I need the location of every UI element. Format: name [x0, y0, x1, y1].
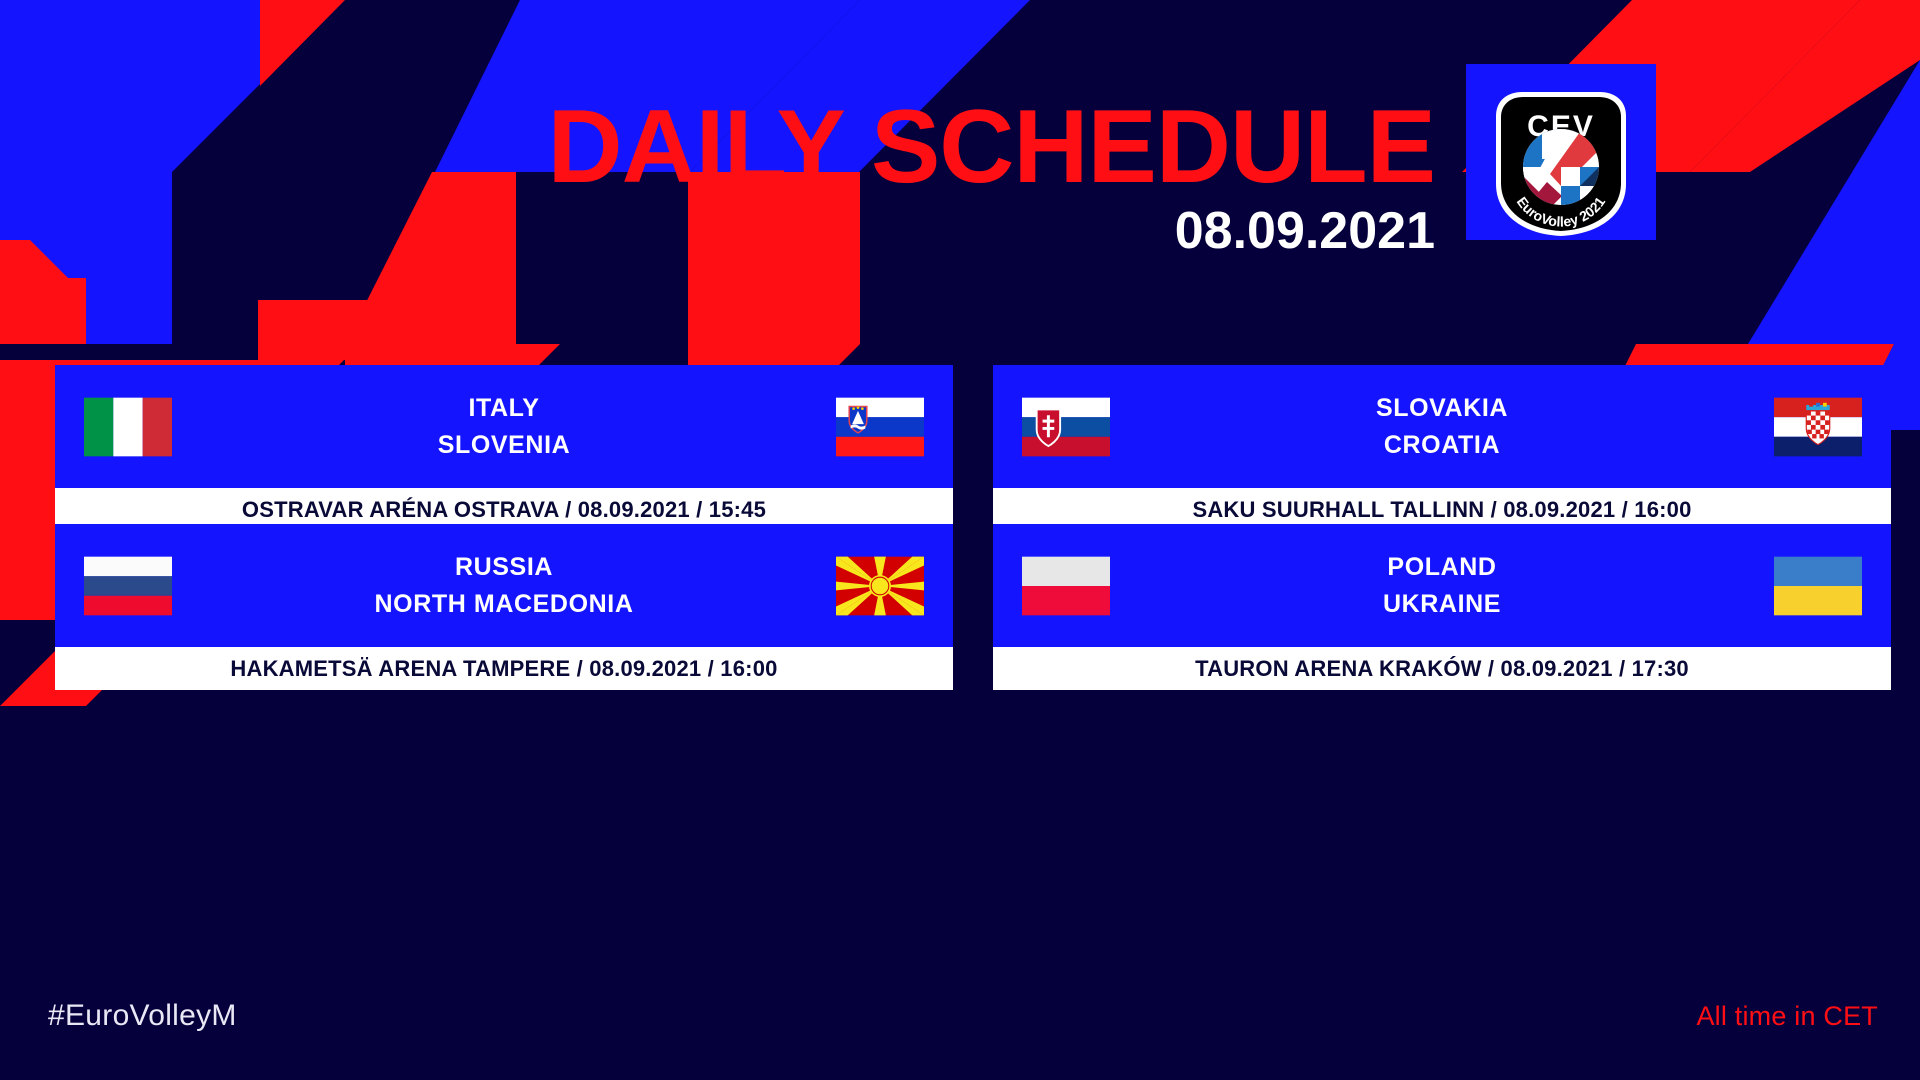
match-venue-info: HAKAMETSÄ ARENA TAMPERE / 08.09.2021 / 1… — [55, 647, 953, 690]
team-names: SLOVAKIA CROATIA — [1110, 396, 1774, 458]
page-title: DAILY SCHEDULE — [0, 95, 1435, 199]
team-names: RUSSIA NORTH MACEDONIA — [172, 555, 836, 617]
flag-croatia-icon — [1774, 394, 1862, 460]
cev-eurovolley-2021-logo-icon: CEV EuroVolley 2021 — [1492, 88, 1630, 240]
match-card-teams-row: RUSSIA NORTH MACEDONIA — [55, 524, 953, 647]
match-venue-info: TAURON ARENA KRAKÓW / 08.09.2021 / 17:30 — [993, 647, 1891, 690]
schedule-graphic: DAILY SCHEDULE 08.09.2021 CEV — [0, 0, 1920, 1080]
team-home: SLOVAKIA — [1376, 396, 1508, 421]
match-card-teams-row: POLAND UKRAINE — [993, 524, 1891, 647]
team-home: RUSSIA — [455, 555, 553, 580]
hashtag-label: #EuroVolleyM — [48, 999, 237, 1033]
page-date: 08.09.2021 — [0, 205, 1435, 257]
flag-slovakia-icon — [1022, 394, 1110, 460]
flag-russia-icon — [84, 553, 172, 619]
flag-north-macedonia-icon — [836, 553, 924, 619]
team-away: NORTH MACEDONIA — [375, 592, 634, 617]
team-away: CROATIA — [1384, 433, 1500, 458]
match-card[interactable]: POLAND UKRAINE TAURON ARENA KRAKÓW / 08.… — [993, 524, 1891, 690]
timezone-note: All time in CET — [1696, 1001, 1878, 1032]
flag-slovenia-icon — [836, 394, 924, 460]
match-card[interactable]: SLOVAKIA CROATIA — [993, 365, 1891, 531]
team-names: POLAND UKRAINE — [1110, 555, 1774, 617]
team-home: ITALY — [468, 396, 539, 421]
team-home: POLAND — [1387, 555, 1496, 580]
flag-ukraine-icon — [1774, 553, 1862, 619]
flag-poland-icon — [1022, 553, 1110, 619]
match-card-teams-row: SLOVAKIA CROATIA — [993, 365, 1891, 488]
flag-italy-icon — [84, 394, 172, 460]
match-card[interactable]: RUSSIA NORTH MACEDONIA — [55, 524, 953, 690]
team-names: ITALY SLOVENIA — [172, 396, 836, 458]
match-card-teams-row: ITALY SLOVENIA — [55, 365, 953, 488]
team-away: SLOVENIA — [438, 433, 571, 458]
match-card[interactable]: ITALY SLOVENIA OSTRAVAR ARÉNA OSTRAVA / … — [55, 365, 953, 531]
team-away: UKRAINE — [1383, 592, 1501, 617]
